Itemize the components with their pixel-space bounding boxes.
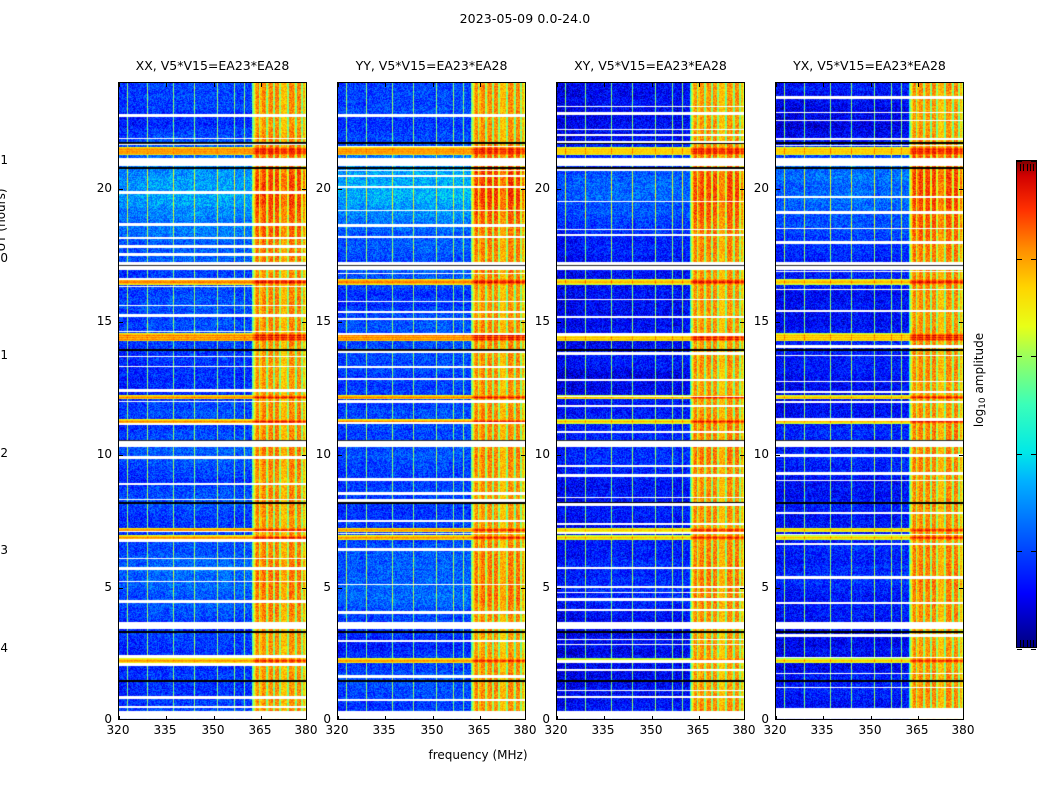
y-tick (302, 588, 306, 589)
x-tick-label: 350 (421, 723, 444, 737)
colorbar-tick-label: −3 (0, 543, 8, 557)
y-tick-label: 5 (747, 580, 769, 594)
colorbar-gradient (1017, 161, 1036, 647)
y-tick (338, 455, 342, 456)
y-tick-label: 0 (747, 712, 769, 726)
dynamic-spectrum-image-xy (557, 83, 745, 720)
colorbar-minor-tick (1027, 164, 1028, 171)
x-tick-label: 335 (154, 723, 177, 737)
y-tick (557, 455, 561, 456)
colorbar-label-suffix: amplitude (972, 333, 986, 397)
y-tick-label: 15 (309, 314, 331, 328)
colorbar-tick-label: −4 (0, 641, 8, 655)
y-tick (302, 189, 306, 190)
y-tick-label: 5 (528, 580, 550, 594)
y-tick-label: 10 (309, 447, 331, 461)
colorbar-minor-tick (1020, 164, 1021, 171)
x-tick (433, 83, 434, 87)
y-tick (776, 189, 780, 190)
y-tick (959, 322, 963, 323)
colorbar-minor-tick (1023, 164, 1024, 171)
x-tick (871, 83, 872, 87)
colorbar-tick-label: −1 (0, 348, 8, 362)
x-tick (119, 716, 120, 720)
x-tick (433, 716, 434, 720)
y-tick-label: 20 (528, 181, 550, 195)
x-tick (557, 83, 558, 87)
x-tick (261, 716, 262, 720)
colorbar-minor-tick (1030, 164, 1031, 171)
y-tick (302, 455, 306, 456)
colorbar-tick (1031, 454, 1036, 455)
x-tick (604, 83, 605, 87)
colorbar (1016, 160, 1037, 648)
y-tick (521, 322, 525, 323)
colorbar-minor-tick (1020, 640, 1021, 647)
y-tick (521, 455, 525, 456)
y-tick (776, 455, 780, 456)
x-tick (338, 83, 339, 87)
x-tick (480, 716, 481, 720)
y-tick (776, 322, 780, 323)
x-tick-label: 335 (811, 723, 834, 737)
x-tick (699, 716, 700, 720)
y-axis-label: UT (hours) (0, 150, 8, 290)
x-tick-label: 365 (249, 723, 272, 737)
spectrum-panel-yx[interactable]: YX, V5*V15=EA23*EA28320335350365380 (775, 82, 964, 720)
y-tick (740, 189, 744, 190)
spectrum-panel-xx[interactable]: XX, V5*V15=EA23*EA28320335350365380 (118, 82, 307, 720)
x-axis-label: frequency (MHz) (0, 748, 1050, 762)
colorbar-label: log10 amplitude (972, 280, 986, 480)
y-tick (959, 189, 963, 190)
y-tick (776, 588, 780, 589)
y-tick (740, 455, 744, 456)
colorbar-tick (1031, 161, 1036, 162)
y-tick-label: 10 (747, 447, 769, 461)
x-tick (385, 83, 386, 87)
panel-axes-xy (556, 82, 745, 720)
colorbar-tick (1017, 259, 1022, 260)
y-tick (959, 588, 963, 589)
y-tick (959, 455, 963, 456)
colorbar-tick (1017, 161, 1022, 162)
dynamic-spectrum-image-xx (119, 83, 307, 720)
x-tick-label: 350 (202, 723, 225, 737)
x-tick (823, 83, 824, 87)
x-tick (776, 716, 777, 720)
colorbar-tick (1017, 454, 1022, 455)
dynamic-spectrum-image-yy (338, 83, 526, 720)
y-tick-label: 0 (90, 712, 112, 726)
y-tick (557, 588, 561, 589)
x-tick (652, 716, 653, 720)
y-tick (338, 588, 342, 589)
spectrum-panel-yy[interactable]: YY, V5*V15=EA23*EA28320335350365380 (337, 82, 526, 720)
colorbar-tick (1031, 259, 1036, 260)
colorbar-label-subscript: 10 (978, 397, 988, 408)
colorbar-tick (1031, 551, 1036, 552)
y-tick (119, 588, 123, 589)
y-tick-label: 15 (747, 314, 769, 328)
x-tick (166, 716, 167, 720)
x-tick (119, 83, 120, 87)
x-tick-label: 365 (687, 723, 710, 737)
colorbar-minor-tick (1033, 164, 1034, 171)
colorbar-minor-tick (1033, 640, 1034, 647)
y-tick-label: 15 (528, 314, 550, 328)
x-tick (214, 83, 215, 87)
x-tick (871, 716, 872, 720)
colorbar-minor-tick (1027, 640, 1028, 647)
figure-suptitle: 2023-05-09 0.0-24.0 (0, 11, 1050, 26)
x-tick-label: 365 (906, 723, 929, 737)
x-tick (166, 83, 167, 87)
x-tick (823, 716, 824, 720)
colorbar-tick (1017, 356, 1022, 357)
x-tick-label: 350 (640, 723, 663, 737)
y-tick-label: 20 (747, 181, 769, 195)
x-axis-label-text: frequency (MHz) (428, 748, 527, 762)
y-tick-label: 10 (90, 447, 112, 461)
colorbar-tick-label: 1 (0, 153, 8, 167)
x-tick-label: 365 (468, 723, 491, 737)
colorbar-tick (1031, 649, 1036, 650)
matplotlib-figure: 2023-05-09 0.0-24.0 XX, V5*V15=EA23*EA28… (0, 0, 1050, 800)
spectrum-panel-xy[interactable]: XY, V5*V15=EA23*EA28320335350365380 (556, 82, 745, 720)
x-tick (338, 716, 339, 720)
y-tick (119, 189, 123, 190)
y-tick (521, 588, 525, 589)
x-tick (776, 83, 777, 87)
colorbar-tick (1017, 551, 1022, 552)
panel-axes-yx (775, 82, 964, 720)
colorbar-tick-label: 0 (0, 251, 8, 265)
x-tick (652, 83, 653, 87)
x-tick-label: 335 (373, 723, 396, 737)
y-tick (338, 322, 342, 323)
y-tick (119, 455, 123, 456)
dynamic-spectrum-image-yx (776, 83, 964, 720)
colorbar-tick (1031, 356, 1036, 357)
y-tick-label: 5 (309, 580, 331, 594)
x-tick (385, 716, 386, 720)
x-tick-label: 380 (952, 723, 975, 737)
y-tick-label: 0 (528, 712, 550, 726)
colorbar-tick (1017, 649, 1022, 650)
x-tick-label: 335 (592, 723, 615, 737)
y-tick-label: 15 (90, 314, 112, 328)
x-tick (699, 83, 700, 87)
x-tick (480, 83, 481, 87)
x-tick (604, 716, 605, 720)
colorbar-tick-label: −2 (0, 446, 8, 460)
x-tick (918, 716, 919, 720)
x-tick (214, 716, 215, 720)
y-tick (338, 189, 342, 190)
colorbar-minor-tick (1023, 640, 1024, 647)
x-tick-label: 350 (859, 723, 882, 737)
y-tick (557, 322, 561, 323)
panel-axes-xx (118, 82, 307, 720)
y-tick (119, 322, 123, 323)
y-tick-label: 20 (90, 181, 112, 195)
y-tick (557, 189, 561, 190)
y-tick (302, 322, 306, 323)
y-tick (740, 322, 744, 323)
colorbar-label-prefix: log (972, 409, 986, 427)
y-tick-label: 10 (528, 447, 550, 461)
y-tick (740, 588, 744, 589)
panel-axes-yy (337, 82, 526, 720)
x-tick (557, 716, 558, 720)
y-tick-label: 0 (309, 712, 331, 726)
x-tick (918, 83, 919, 87)
y-tick (521, 189, 525, 190)
colorbar-minor-tick (1030, 640, 1031, 647)
y-tick-label: 5 (90, 580, 112, 594)
x-tick (261, 83, 262, 87)
y-tick-label: 20 (309, 181, 331, 195)
panel-title-yx: YX, V5*V15=EA23*EA28 (715, 58, 1024, 73)
